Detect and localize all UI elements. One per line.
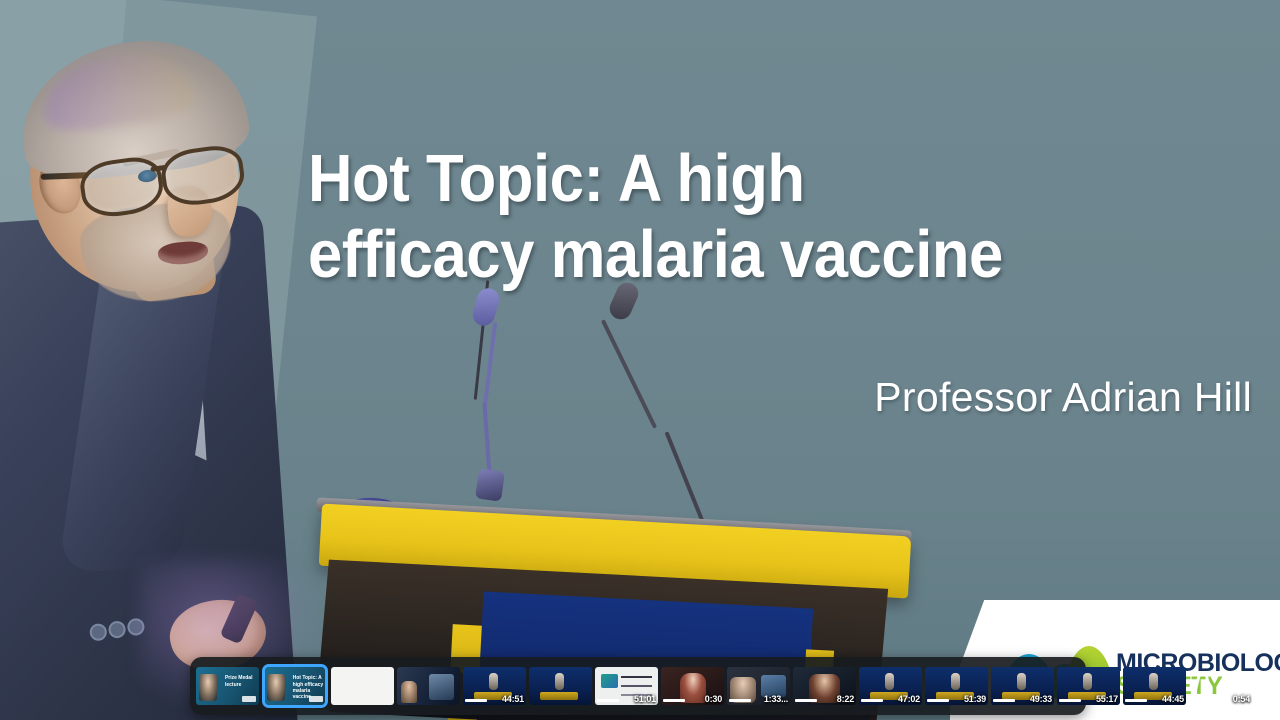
strip-thumbnail-short-clip-2[interactable]: 0:54 [1255, 667, 1280, 705]
thumbnail-progress-bar [663, 699, 685, 702]
strip-thumbnail-speaker-on-stage-4[interactable]: 51:39 [925, 667, 988, 705]
strip-thumbnail-speaker-on-stage-7[interactable]: 44:45 [1123, 667, 1186, 705]
thumbnail-stroke [1192, 673, 1201, 699]
thumbnail-duration: 49:33 [1030, 694, 1052, 704]
thumbnail-stroke [1218, 677, 1227, 699]
thumbnail-progress-bar [1125, 699, 1147, 702]
thumbnail-duration: 55:17 [1096, 694, 1118, 704]
thumbnail-duration: 0:54 [1233, 694, 1250, 704]
thumbnail-progress-bar [861, 699, 883, 702]
thumbnail-stroke [1270, 671, 1279, 699]
thumbnail-duration: 44:45 [1162, 694, 1184, 704]
thumbnail-progress-bar [465, 699, 487, 702]
thumbnail-progress-bar [729, 699, 751, 702]
strip-thumbnail-hot-topic-malaria-vaccine[interactable]: Hot Topic: A high efficacy malaria vacci… [262, 664, 328, 708]
glasses-lens-right [158, 142, 247, 209]
thumbnail-speaker [267, 674, 285, 701]
thumbnail-image [529, 667, 592, 705]
thumbnail-image: Prize Medal lecture [196, 667, 259, 705]
strip-thumbnail-presentation-document[interactable]: 51:01 [595, 667, 658, 705]
strip-thumbnail-speaker-on-stage-5[interactable]: 49:33 [991, 667, 1054, 705]
thumbnail-stroke [1204, 671, 1213, 699]
thumbnail-progress-bar [1059, 699, 1081, 702]
thumbnail-image [331, 667, 394, 705]
video-thumbnail-frame: Hot Topic: A high efficacy malaria vacci… [0, 0, 1280, 720]
video-thumbnail-strip[interactable]: Prize Medal lectureHot Topic: A high eff… [190, 657, 1086, 715]
speaker-name: Professor Adrian Hill [874, 374, 1252, 421]
strip-thumbnail-short-clip-1[interactable]: 0:54 [1189, 667, 1252, 705]
thumbnail-progress-bar [993, 699, 1015, 702]
thumbnail-image: Hot Topic: A high efficacy malaria vacci… [265, 667, 325, 705]
thumbnail-duration: 0:30 [705, 694, 722, 704]
thumbnail-progress-bar [597, 699, 619, 702]
strip-thumbnail-speaker-on-stage-3[interactable]: 47:02 [859, 667, 922, 705]
strip-thumbnail-speaker-on-stage-2[interactable] [529, 667, 592, 705]
glasses-lens-left [77, 154, 166, 221]
thumbnail-duration: 1:33... [764, 694, 788, 704]
microphone-mount [475, 468, 505, 501]
thumbnail-speaker [199, 674, 218, 701]
thumbnail-image [1255, 667, 1280, 705]
strip-thumbnail-speaker-on-stage-6[interactable]: 55:17 [1057, 667, 1120, 705]
thumbnail-duration: 51:39 [964, 694, 986, 704]
thumbnail-logo [309, 696, 323, 702]
strip-thumbnail-radio-device[interactable] [331, 667, 394, 705]
strip-thumbnail-prize-medal-lecture[interactable]: Prize Medal lecture [196, 667, 259, 705]
thumbnail-duration: 47:02 [898, 694, 920, 704]
thumbnail-duration: 8:22 [837, 694, 854, 704]
thumbnail-logo [242, 696, 256, 702]
thumbnail-progress-bar [795, 699, 817, 702]
thumbnail-image [397, 667, 460, 705]
thumbnail-progress-bar [927, 699, 949, 702]
thumbnail-duration: 51:01 [634, 694, 656, 704]
thumbnail-stroke [1258, 673, 1267, 699]
strip-thumbnail-conference-crowd[interactable] [397, 667, 460, 705]
thumbnail-duration: 44:51 [502, 694, 524, 704]
strip-thumbnail-webcam-speaker-3[interactable]: 8:22 [793, 667, 856, 705]
page-title: Hot Topic: A high efficacy malaria vacci… [308, 141, 1182, 292]
title-line-2: efficacy malaria vaccine [308, 217, 1182, 293]
strip-thumbnail-speaker-on-stage-1[interactable]: 44:51 [463, 667, 526, 705]
strip-thumbnail-webcam-speaker-2[interactable]: 1:33... [727, 667, 790, 705]
title-line-1: Hot Topic: A high [308, 141, 805, 216]
thumbnail-slide-title: Prize Medal lecture [225, 675, 259, 688]
strip-thumbnail-webcam-speaker-1[interactable]: 0:30 [661, 667, 724, 705]
